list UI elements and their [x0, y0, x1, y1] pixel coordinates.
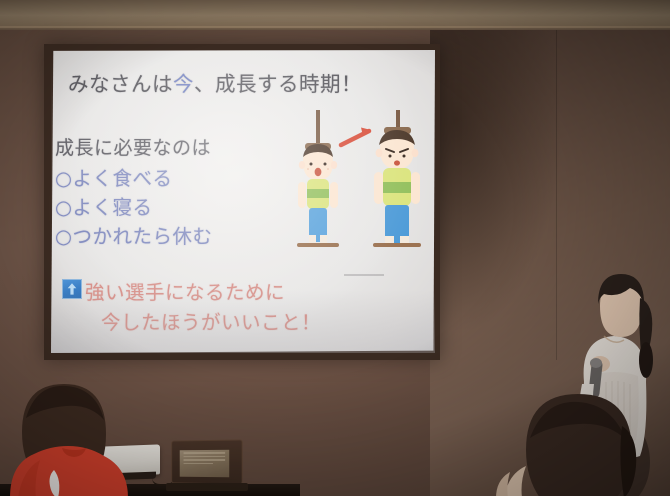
laptop-base	[166, 483, 248, 491]
slide-callout-line2: 今したほうがいいこと！	[101, 306, 321, 335]
shorter-boy-figure	[297, 110, 339, 247]
presentation-photo-scene: みなさんは今、成長する時期！ 成長に必要なのは ○よく食べる ○よく寝る ○つか…	[0, 0, 670, 496]
wall-shadow	[430, 30, 560, 330]
student-red-jersey	[0, 372, 178, 496]
laptop	[171, 439, 243, 484]
slide-content: みなさんは今、成長する時期！ 成長に必要なのは ○よく食べる ○よく寝る ○つか…	[51, 50, 435, 353]
growth-arrow	[341, 128, 371, 146]
ceiling-trim-line	[0, 26, 670, 28]
wall-seam	[556, 30, 557, 360]
ceiling	[0, 0, 670, 34]
up-arrow-icon	[62, 279, 82, 299]
slide-title-highlight: 今	[173, 72, 194, 96]
slide-bullet-rest: ○つかれたら休む	[55, 220, 213, 249]
slide-callout-line1: 強い選手になるために	[85, 276, 285, 305]
laptop-screen	[180, 450, 229, 477]
slide-bullet-sleep: ○よく寝る	[55, 191, 153, 220]
taller-boy-figure	[373, 110, 421, 247]
slide-bullet-eat: ○よく食べる	[55, 162, 173, 191]
slide-title-before: みなさんは	[68, 72, 173, 96]
slide-title: みなさんは今、成長する時期！	[68, 67, 362, 97]
slide-illustration	[283, 110, 433, 285]
student-dark-hair	[496, 366, 670, 496]
slide-title-after: 、成長する時期！	[194, 72, 362, 96]
slide-lead-line: 成長に必要なのは	[55, 133, 211, 160]
